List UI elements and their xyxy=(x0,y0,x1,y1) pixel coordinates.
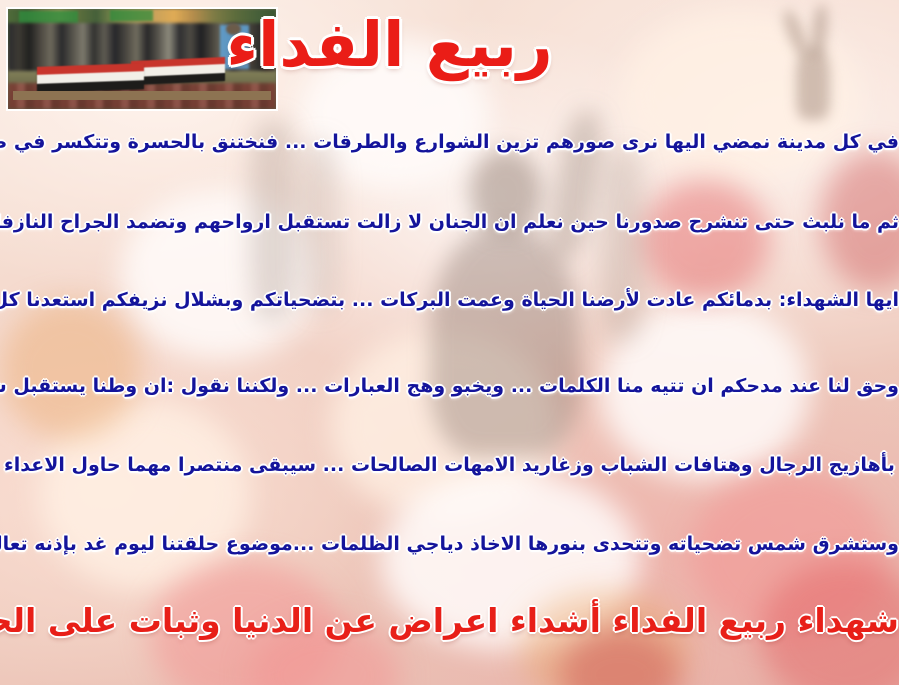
body-line-6: وستشرق شمس تضحياته وتتحدى بنورها الاخاذ … xyxy=(0,535,899,554)
body-line-1: في كل مدينة نمضي اليها نرى صورهم تزين ال… xyxy=(0,133,899,152)
body-line-3: ايها الشهداء: بدمائكم عادت لأرضنا الحياة… xyxy=(0,291,899,310)
body-line-4: وحق لنا عند مدحكم ان تتيه منا الكلمات ..… xyxy=(0,377,899,396)
poster-title: ربيع الفداء xyxy=(0,14,899,76)
closing-statement: شهداء ربيع الفداء أشداء اعراض عن الدنيا … xyxy=(0,604,899,637)
body-line-2: ثم ما نلبث حتى تنشرح صدورنا حين نعلم ان … xyxy=(0,213,899,232)
poster-canvas: ربيع الفداء في كل مدينة نمضي اليها نرى ص… xyxy=(0,0,899,685)
body-line-5: بأهازيج الرجال وهتافات الشباب وزغاريد ال… xyxy=(0,456,899,475)
